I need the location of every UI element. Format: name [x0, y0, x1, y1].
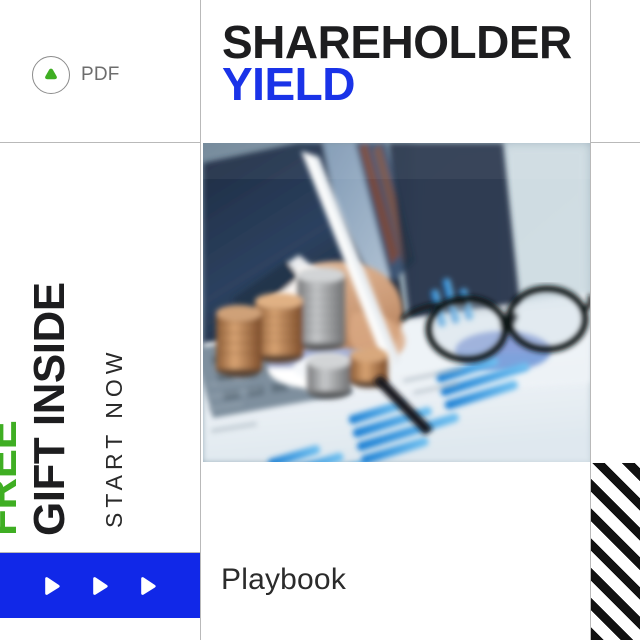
promo-start-now-cta[interactable]: START NOW: [103, 348, 126, 528]
promo-vertical-block: FREE GIFT INSIDE START NOW: [0, 143, 200, 552]
play-button-1[interactable]: [39, 573, 65, 599]
play-bar: [0, 553, 200, 618]
pdf-play-circle-icon: [32, 56, 70, 94]
promo-gift-inside-label: GIFT INSIDE: [28, 282, 72, 536]
divider-horizontal-top-right: [590, 142, 640, 143]
pdf-cover-poster: PDF SHAREHOLDER YIELD: [0, 0, 640, 640]
promo-free-label: FREE: [0, 421, 24, 536]
cover-caption: Playbook: [221, 563, 346, 597]
play-button-2[interactable]: [87, 573, 113, 599]
pdf-badge-label: PDF: [81, 64, 120, 86]
divider-vertical-left: [200, 0, 201, 640]
play-button-3[interactable]: [135, 573, 161, 599]
page-title-line-1: SHAREHOLDER: [222, 21, 572, 63]
cover-photo: [203, 143, 590, 462]
page-title: SHAREHOLDER YIELD: [222, 21, 572, 106]
diagonal-stripe-decoration: [591, 463, 640, 640]
page-title-line-2: YIELD: [222, 63, 572, 105]
pdf-badge[interactable]: PDF: [32, 56, 120, 94]
